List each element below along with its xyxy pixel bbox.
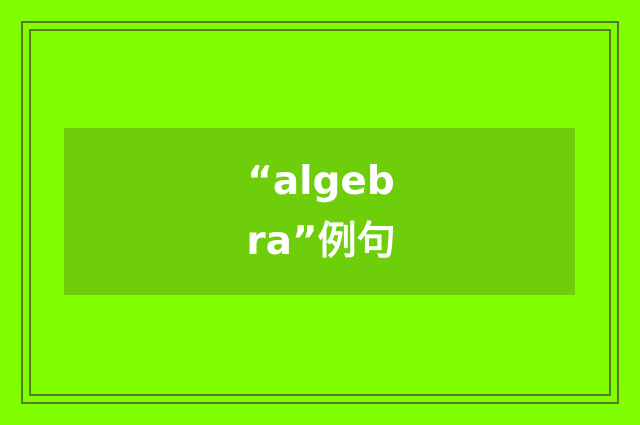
caption-text: “algebra”例句 [242, 152, 400, 272]
image-canvas: “algebra”例句 [0, 0, 640, 425]
caption-container: “algebra”例句 [181, 128, 461, 295]
